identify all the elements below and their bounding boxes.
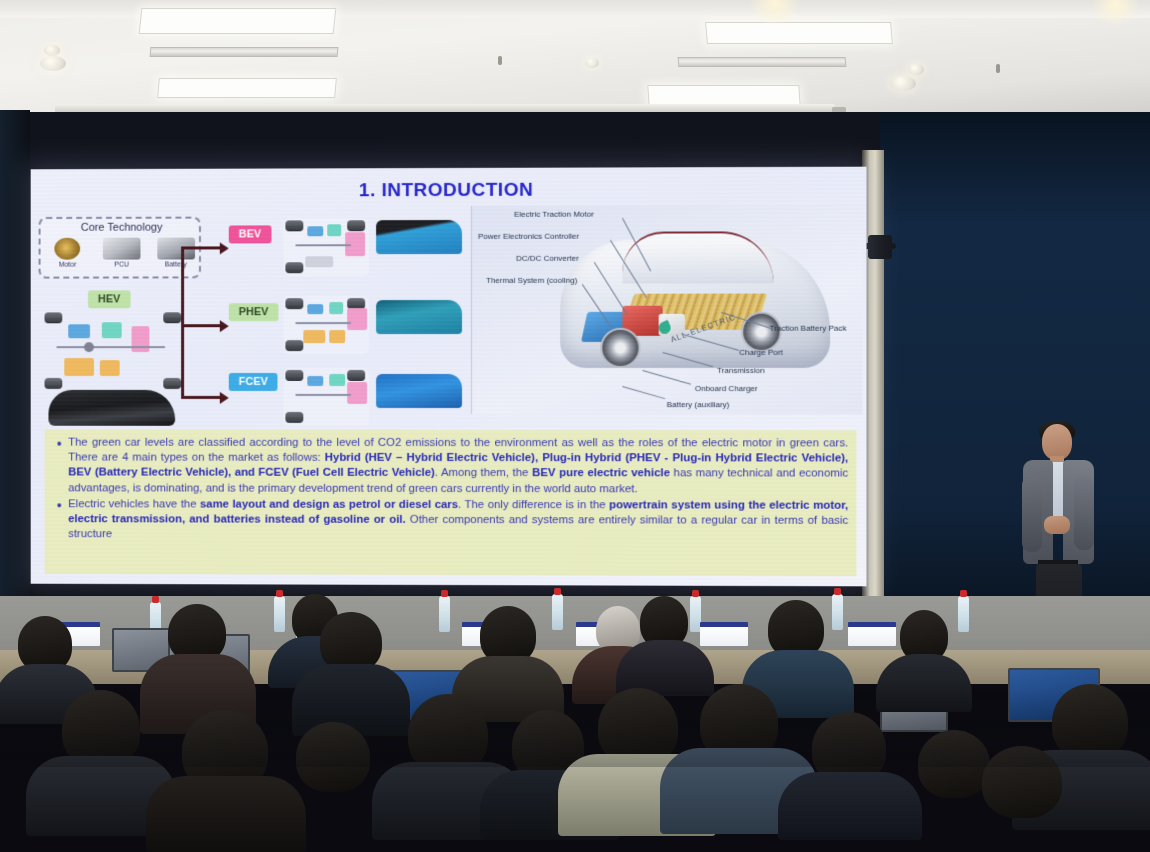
schematic-block-engine [64, 358, 94, 376]
audience-shoulders [146, 776, 306, 852]
tag-fcev: FCEV [229, 373, 278, 391]
schematic-block-battery [132, 326, 150, 352]
bullet-text: The green car levels are classified acco… [68, 436, 848, 498]
curtain-shading [880, 112, 1150, 637]
schematic-block-aux [305, 256, 333, 267]
flow-arrow-bev [181, 246, 221, 249]
motor-icon [55, 238, 81, 260]
tag-hev: HEV [88, 290, 130, 308]
tag-phev: PHEV [229, 303, 279, 321]
audience-shoulders [876, 654, 972, 712]
ceiling-downlight [890, 76, 916, 91]
ceiling-downlight [44, 45, 60, 56]
bullet-marker: • [50, 436, 68, 452]
hev-schematic-diagram [41, 308, 199, 398]
audience-shoulders [292, 664, 410, 736]
schematic-wheel [45, 312, 63, 323]
schematic-wheel [285, 412, 303, 423]
core-technology-box: Core Technology Motor PCU Battery [39, 217, 201, 279]
schematic-axle [56, 346, 165, 348]
bev-schematic-diagram [283, 218, 369, 276]
schematic-axle [295, 322, 351, 324]
core-technology-heading: Core Technology [41, 222, 203, 234]
schematic-axle [295, 244, 351, 246]
schematic-wheel [285, 370, 303, 381]
schematic-block-engine [303, 330, 325, 343]
ceiling [0, 0, 1150, 120]
bullet-item: • Electric vehicles have the same layout… [50, 497, 848, 544]
audience [0, 560, 1150, 767]
ev-roof [622, 231, 773, 283]
schematic-wheel [285, 220, 303, 231]
ceiling-downlight [908, 64, 924, 75]
cutaway-label-thermal-system: Thermal System (cooling) [486, 276, 577, 285]
screen-mount-clamp [868, 235, 892, 259]
schematic-wheel [347, 370, 365, 381]
schematic-block-pcu [329, 302, 343, 314]
name-card [848, 622, 896, 646]
water-bottle [274, 596, 285, 632]
projected-slide: 1. INTRODUCTION Core Technology Motor PC… [31, 167, 867, 587]
schematic-block-motor [307, 226, 323, 236]
lecture-hall-scene: 1. INTRODUCTION Core Technology Motor PC… [0, 0, 1150, 767]
cutaway-label-battery-auxiliary: Battery (auxiliary) [667, 400, 730, 409]
ev-front-wheel [600, 328, 640, 368]
schematic-wheel [347, 220, 365, 231]
audience-head [982, 746, 1062, 818]
core-technology-items: Motor PCU Battery [41, 238, 203, 269]
core-item-label: PCU [99, 262, 145, 269]
presenter-head [1042, 424, 1072, 460]
schematic-block-motor [307, 304, 323, 314]
schematic-wheel [285, 340, 303, 351]
core-item-label: Battery [153, 261, 199, 268]
sprinkler-head [996, 64, 1000, 73]
core-item-motor: Motor [45, 238, 90, 269]
slide-title: 1. INTRODUCTION [31, 179, 867, 203]
ceiling-light-glow [1088, 0, 1144, 24]
core-item-pcu: PCU [99, 238, 145, 269]
slide-body-text: • The green car levels are classified ac… [45, 430, 857, 577]
ceiling-light-panel [157, 78, 337, 98]
cutaway-label-transmission: Transmission [717, 366, 765, 375]
schematic-wheel [163, 378, 181, 389]
schematic-wheel [285, 262, 303, 273]
schematic-block-tank [100, 360, 120, 376]
presenter-hands [1044, 516, 1070, 534]
ceiling-vent [150, 47, 339, 57]
schematic-block-pcu [102, 322, 122, 338]
core-item-label: Motor [45, 262, 90, 269]
cutaway-label-electric-traction-motor: Electric Traction Motor [514, 210, 594, 219]
water-bottle [552, 594, 563, 630]
cutaway-label-charge-port: Charge Port [739, 348, 783, 357]
audience-head [296, 722, 370, 792]
schematic-block-motor [68, 324, 90, 338]
schematic-block-tank [329, 330, 345, 343]
water-bottle [958, 596, 969, 632]
audience-head [918, 730, 990, 798]
water-bottle [832, 594, 843, 630]
ceiling-light-glow [745, 0, 805, 24]
phev-car-photo [376, 300, 462, 334]
presenter-arm-left [1022, 476, 1042, 552]
bullet-text: Electric vehicles have the same layout a… [68, 497, 848, 544]
core-item-battery: Battery [153, 238, 199, 269]
cutaway-label-dcdc-converter: DC/DC Converter [516, 254, 579, 263]
presenter-arm-right [1074, 476, 1094, 550]
tag-bev: BEV [229, 225, 271, 243]
schematic-block-fuelcell [329, 374, 345, 386]
bullet-marker: • [50, 497, 68, 513]
flow-arrow-phev [181, 324, 221, 327]
ceiling-vent [678, 57, 847, 67]
flow-arrow-fcev [181, 396, 221, 399]
pcu-icon [103, 238, 141, 260]
ceiling-downlight [585, 58, 599, 68]
schematic-axle [295, 394, 351, 396]
ev-cutaway-diagram: ALL-ELECTRIC Electric Traction Motor Pow… [472, 205, 862, 414]
leader-line [622, 386, 665, 399]
schematic-wheel [163, 312, 181, 323]
ceiling-downlight [40, 56, 66, 71]
cutaway-label-onboard-charger: Onboard Charger [695, 384, 758, 393]
cutaway-label-power-electronics-controller: Power Electronics Controller [478, 232, 579, 241]
bullet-item: • The green car levels are classified ac… [50, 436, 848, 498]
ceiling-light-panel [705, 22, 893, 44]
audience-head [320, 612, 382, 672]
leader-line [642, 370, 691, 385]
schematic-wheel [285, 298, 303, 309]
bev-car-photo [376, 220, 462, 254]
ceiling-light-panel [139, 8, 337, 34]
schematic-block-battery [347, 308, 367, 330]
sprinkler-head [498, 56, 502, 65]
audience-shoulders [778, 772, 922, 840]
cutaway-label-traction-battery-pack: Traction Battery Pack [769, 324, 846, 333]
fcev-schematic-diagram [283, 368, 369, 426]
schematic-block-motor [307, 376, 323, 386]
schematic-block-pcu [327, 224, 341, 236]
schematic-node [84, 342, 94, 352]
water-bottle [439, 596, 450, 632]
name-card [700, 622, 748, 646]
fcev-car-photo [376, 374, 462, 408]
phev-schematic-diagram [283, 296, 369, 354]
schematic-wheel [45, 378, 63, 389]
hev-car-photo [48, 390, 175, 426]
schematic-block-battery [347, 382, 367, 404]
stage-curtain [880, 112, 1150, 637]
audience-head [1052, 684, 1128, 760]
flow-arrow-trunk [181, 247, 184, 398]
